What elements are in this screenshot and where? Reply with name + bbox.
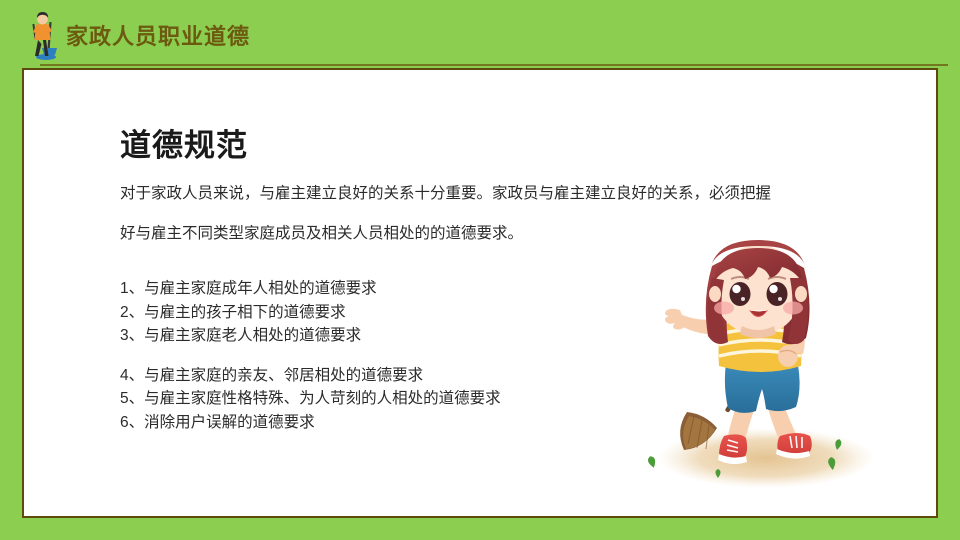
right-boot (776, 433, 812, 459)
list-item: 3、与雇主家庭老人相处的道德要求 (120, 324, 501, 348)
list-item: 1、与雇主家庭成年人相处的道德要求 (120, 277, 501, 301)
page-title: 家政人员职业道德 (66, 19, 250, 51)
cleaner-with-mop-icon (24, 8, 62, 60)
list-item: 6、消除用户误解的道德要求 (120, 411, 501, 435)
paragraph-line: 对于家政人员来说，与雇主建立良好的关系十分重要。家政员与雇主建立良好的关系，必须… (120, 174, 850, 214)
list-item: 4、与雇主家庭的亲友、邻居相处的道德要求 (120, 364, 501, 388)
list-item: 2、与雇主的孩子相下的道德要求 (120, 301, 501, 325)
moral-requirements-list: 1、与雇主家庭成年人相处的道德要求 2、与雇主的孩子相下的道德要求 3、与雇主家… (120, 277, 501, 434)
section-heading: 道德规范 (120, 120, 248, 165)
list-item: 5、与雇主家庭性格特殊、为人苛刻的人相处的道德要求 (120, 387, 501, 411)
header-divider (40, 64, 948, 66)
slide-header: 家政人员职业道德 (0, 0, 960, 66)
content-panel: 道德规范 对于家政人员来说，与雇主建立良好的关系十分重要。家政员与雇主建立良好的… (22, 68, 938, 518)
girl-sweeping-with-broom-illustration (614, 230, 904, 520)
